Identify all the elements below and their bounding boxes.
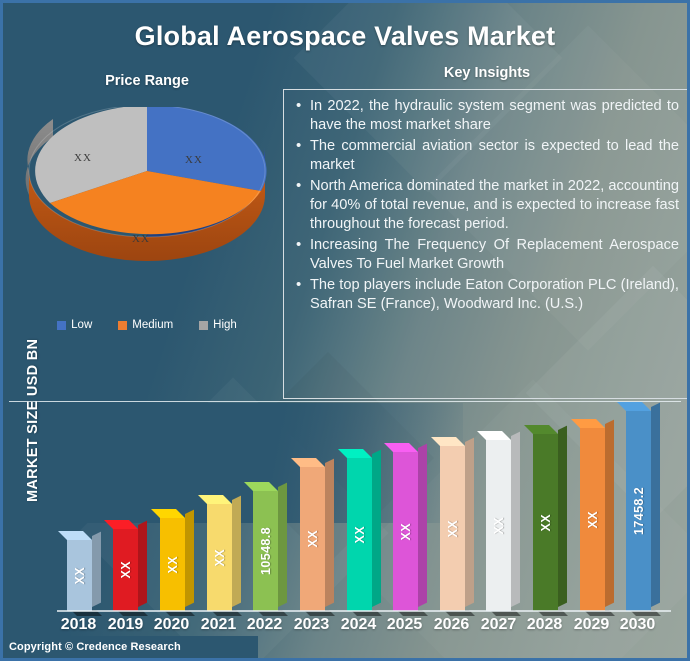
bar-side-face [465,438,474,607]
x-label-2026: 2026 [428,616,475,634]
bar-value-label: XX [353,526,367,543]
bar-value-label: XX [213,549,227,566]
footer: Copyright © Credence Research [3,636,258,658]
bar-top-face [244,482,278,491]
bar-value-label: 10548.8 [259,527,273,575]
legend-label-low: Low [71,319,92,331]
bar-front-face: XX [486,440,511,611]
bar-2021[interactable]: XX [207,504,232,611]
bar-top-face [617,402,651,411]
legend-label-medium: Medium [132,319,173,331]
x-label-2025: 2025 [381,616,428,634]
pie-label-medium: XX [132,233,150,245]
key-insights-box: In 2022, the hydraulic system segment wa… [283,89,689,399]
bar-top-face [338,449,372,458]
insight-bullet: In 2022, the hydraulic system segment wa… [293,97,679,136]
bar-front-face: XX [160,518,185,611]
bar-side-face [372,450,381,607]
x-label-2027: 2027 [475,616,522,634]
bar-value-label: XX [492,517,506,534]
bar-front-face: XX [393,452,418,611]
bar-side-face [605,420,614,607]
bar-2023[interactable]: XX [300,467,325,611]
bar-value-label: XX [399,523,413,540]
insight-bullet: The commercial aviation sector is expect… [293,137,679,176]
bar-front-face: XX [440,446,465,611]
bar-front-face: XX [580,428,605,611]
bar-side-face [325,459,334,607]
insight-bullet: The top players include Eaton Corporatio… [293,276,679,315]
bar-value-label: XX [446,520,460,537]
legend-item-high[interactable]: High [199,319,237,331]
pie-chart-title: Price Range [11,73,283,89]
legend-label-high: High [213,319,237,331]
x-label-2024: 2024 [335,616,382,634]
bar-top-face [151,509,185,518]
bar-top-face [291,458,325,467]
bar-2022[interactable]: 10548.8 [253,491,278,611]
x-label-2028: 2028 [521,616,568,634]
x-label-2023: 2023 [288,616,335,634]
x-label-2022: 2022 [241,616,288,634]
bar-value-label: XX [119,561,133,578]
infographic-canvas: Global Aerospace Valves Market Price Ran… [0,0,690,661]
bar-top-face [477,431,511,440]
bar-2026[interactable]: XX [440,446,465,611]
bar-value-label: XX [166,556,180,573]
bar-2028[interactable]: XX [533,434,558,611]
bar-top-face [198,495,232,504]
bar-top-face [571,419,605,428]
market-size-chart-panel: MARKET SIZE USD BN XXXXXXXX10548.8XXXXXX… [3,402,690,661]
bar-top-face [524,425,558,434]
x-label-2020: 2020 [148,616,195,634]
x-label-2019: 2019 [102,616,149,634]
bar-front-face: XX [113,529,138,611]
page-title: Global Aerospace Valves Market [3,21,687,52]
pie-label-low: XX [185,154,203,166]
bar-top-face [104,520,138,529]
bar-front-face: XX [347,458,372,611]
key-insights-title: Key Insights [281,65,690,81]
bar-side-face [92,532,101,607]
insight-bullet: North America dominated the market in 20… [293,177,679,235]
insight-bullet: Increasing The Frequency Of Replacement … [293,236,679,275]
legend-swatch-medium [118,321,127,330]
pie-label-high: XX [74,152,92,164]
legend-item-low[interactable]: Low [57,319,92,331]
bar-front-face: XX [533,434,558,611]
bar-top-face [58,531,92,540]
pie-chart-svg [17,107,277,307]
bar-value-label: XX [539,514,553,531]
copyright-text: Copyright © Credence Research [3,641,181,653]
bar-2024[interactable]: XX [347,458,372,611]
bar-side-face [232,496,241,607]
bar-2027[interactable]: XX [486,440,511,611]
legend-item-medium[interactable]: Medium [118,319,173,331]
bar-value-label: XX [73,567,87,584]
price-range-chart-panel: Price Range [11,65,283,395]
bar-side-face [651,403,660,607]
bar-side-face [558,426,567,607]
bar-side-face [278,483,287,607]
bar-front-face: XX [207,504,232,611]
bar-2025[interactable]: XX [393,452,418,611]
x-axis-line [57,610,671,612]
bar-side-face [185,510,194,607]
bar-2019[interactable]: XX [113,529,138,611]
pie-legend: Low Medium High [11,319,283,331]
x-label-2018: 2018 [55,616,102,634]
bar-side-face [418,444,427,607]
x-label-2029: 2029 [568,616,615,634]
x-label-2030: 2030 [614,616,661,634]
bar-top-face [384,443,418,452]
bar-top-face [431,437,465,446]
legend-swatch-high [199,321,208,330]
bar-front-face: XX [67,540,92,611]
bar-2018[interactable]: XX [67,540,92,611]
bar-value-label: 17458.2 [632,487,646,535]
bar-value-label: XX [306,530,320,547]
bar-chart-plot-area: XXXXXXXX10548.8XXXXXXXXXXXXXX17458.2 [57,406,663,611]
bar-value-label: XX [586,511,600,528]
bar-side-face [138,521,147,607]
bar-2020[interactable]: XX [160,518,185,611]
legend-swatch-low [57,321,66,330]
bar-front-face: 17458.2 [626,411,651,611]
bar-2030[interactable]: 17458.2 [626,411,651,611]
bar-side-face [511,432,520,607]
y-axis-title: MARKET SIZE USD BN [25,339,41,502]
bar-front-face: 10548.8 [253,491,278,611]
pie-chart: XX XX XX [17,107,277,307]
x-label-2021: 2021 [195,616,242,634]
bar-front-face: XX [300,467,325,611]
key-insights-list: In 2022, the hydraulic system segment wa… [293,97,679,314]
bar-2029[interactable]: XX [580,428,605,611]
